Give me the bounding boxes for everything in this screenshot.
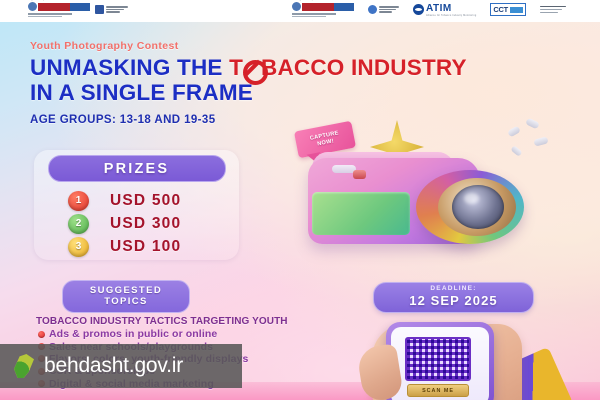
page-title: UNMASKING THE TBACCO INDUSTRY IN A SINGL… <box>30 55 467 105</box>
medal-icon-2: 2 <box>68 214 89 234</box>
camera-illustration: CAPTURE NOW! <box>288 114 558 269</box>
prize-rank-3: 3 <box>76 241 82 252</box>
prize-amount-2: USD 300 <box>110 215 181 233</box>
cct-logo: CCT <box>490 3 526 16</box>
network-logo <box>368 5 399 14</box>
medal-icon-3: 3 <box>68 237 89 257</box>
title-highlight-t: T <box>229 55 243 80</box>
deadline-badge: DEADLINE: 12 SEP 2025 <box>373 282 534 313</box>
co-organizer-caption: Co-Organized by <box>292 0 313 1</box>
partner-logo <box>95 5 128 14</box>
prize-row: 1 USD 500 <box>68 189 239 212</box>
lens-glint <box>464 193 479 204</box>
medal-icon-1: 1 <box>68 191 89 211</box>
cct-label: CCT <box>493 5 508 14</box>
behdasht-logo-icon <box>14 354 34 378</box>
prizes-title: PRIZES <box>104 161 170 177</box>
atim-label: ATIM <box>426 3 476 14</box>
prize-rank-1: 1 <box>76 195 82 206</box>
who-globe-icon-2 <box>292 2 301 11</box>
watermark-url: behdasht.gov.ir <box>44 354 183 378</box>
bullet-icon <box>38 331 45 338</box>
title-line2: IN A SINGLE FRAME <box>30 80 253 105</box>
qr-code-icon[interactable] <box>405 337 471 381</box>
atim-sublabel: Alliance for Tobacco Industry Monitoring <box>426 14 476 17</box>
organizer-caption: Organized by <box>28 0 45 1</box>
camera-grip-panel <box>312 192 410 235</box>
phone-screen: SCAN ME <box>391 327 489 400</box>
camera-lens <box>416 170 524 244</box>
hand-with-phone-illustration: SCAN ME <box>360 318 560 400</box>
scan-me-label: SCAN ME <box>422 388 454 394</box>
title-line1-prefix: UNMASKING THE <box>30 55 229 80</box>
contest-kicker: Youth Photography Contest <box>30 40 467 52</box>
site-watermark: behdasht.gov.ir <box>0 344 242 388</box>
organizer-logo-group: Organized by <box>28 2 128 17</box>
sponsor-logo-bar: Organized by Co-Organized by <box>0 0 600 22</box>
camera-lens-glass <box>452 185 504 229</box>
age-groups-text: AGE GROUPS: 13-18 AND 19-35 <box>30 114 467 126</box>
hand-thumb <box>356 343 404 400</box>
camera-shutter-button <box>353 170 366 179</box>
who-logo-2 <box>292 2 354 17</box>
title-highlight-rest: BACCO INDUSTRY <box>261 55 467 80</box>
smartphone: SCAN ME <box>386 322 494 400</box>
suggested-topics-badge: SUGGESTED TOPICS <box>62 280 190 313</box>
poster-image: Organized by Co-Organized by <box>0 0 600 400</box>
atim-logo: ATIM Alliance for Tobacco Industry Monit… <box>413 3 476 17</box>
topics-subheading: TOBACCO INDUSTRY TACTICS TARGETING YOUTH <box>36 316 288 327</box>
atim-globe-icon <box>413 4 424 15</box>
who-logo <box>28 2 90 17</box>
co-organizer-logo-group: Co-Organized by ATIM Alliance for Tobacc… <box>292 2 566 17</box>
sparkle-icons <box>502 118 558 164</box>
list-item: Ads & promos in public or online <box>38 328 248 340</box>
prizes-card: PRIZES 1 USD 500 2 USD 300 3 USD 100 <box>34 150 239 260</box>
ministry-logo <box>540 6 566 14</box>
prize-row: 3 USD 100 <box>68 235 239 258</box>
prizes-header: PRIZES <box>48 155 226 182</box>
prize-amount-3: USD 100 <box>110 238 181 256</box>
prize-row: 2 USD 300 <box>68 212 239 235</box>
prize-amount-1: USD 500 <box>110 192 181 210</box>
camera-lens-barrel <box>438 178 516 236</box>
topics-badge-line1: SUGGESTED <box>90 286 162 297</box>
prize-list: 1 USD 500 2 USD 300 3 USD 100 <box>34 189 239 258</box>
scan-me-button[interactable]: SCAN ME <box>407 384 469 397</box>
no-smoking-o-icon <box>243 59 261 77</box>
headline-block: Youth Photography Contest UNMASKING THE … <box>30 40 467 126</box>
topics-badge-line2: TOPICS <box>104 297 148 308</box>
prize-rank-2: 2 <box>76 218 82 229</box>
topic-text-1: Ads & promos in public or online <box>49 328 217 340</box>
deadline-date: 12 SEP 2025 <box>409 293 497 309</box>
who-globe-icon <box>28 2 37 11</box>
